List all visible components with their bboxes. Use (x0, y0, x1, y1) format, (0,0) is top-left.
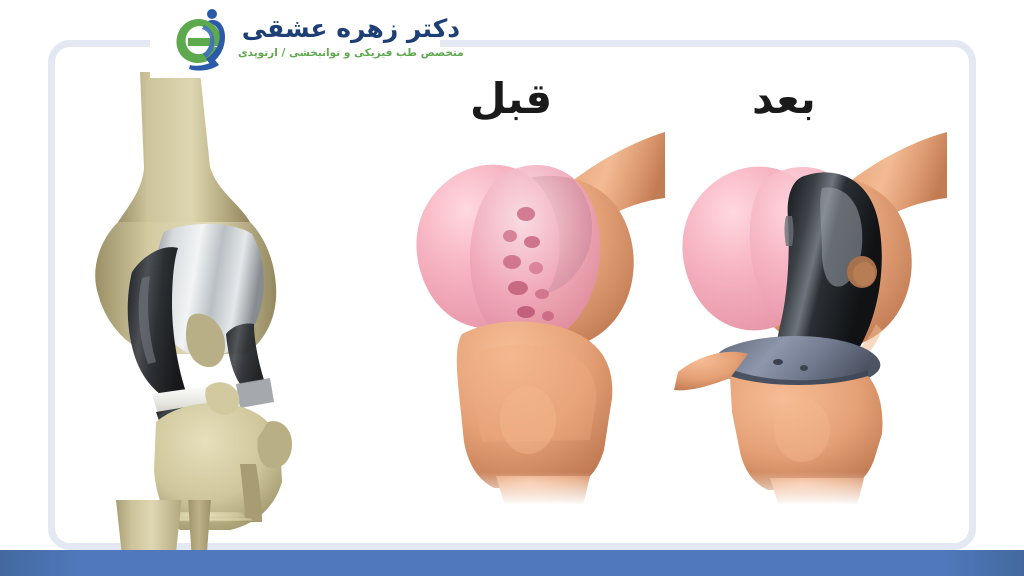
bottom-accent-bar (0, 550, 1024, 576)
knee-before-svg (400, 120, 665, 510)
illustration-knee-frontal-implant (60, 72, 300, 522)
baseplate-fixation-mark-1 (773, 359, 783, 365)
tibial-tuberosity-before (500, 386, 556, 454)
label-after: بعد (752, 78, 816, 120)
brand-header[interactable]: دکتر زهره عشقی متخصص طب فیزیکی و توانبخش… (168, 2, 418, 74)
lower-leg (168, 518, 256, 522)
doctor-specialty: متخصص طب فیزیکی و توانبخشی / ارتوپدی (238, 47, 464, 61)
brand-text-block: دکتر زهره عشقی متخصص طب فیزیکی و توانبخش… (234, 15, 466, 60)
logo-svg (168, 5, 234, 71)
logo-figure-head (207, 9, 217, 19)
label-before: قبل (470, 78, 552, 120)
slide-root: قبل بعد دکتر زهره عشقی متخصص طب فیزیکی و… (0, 0, 1024, 576)
prosthesis-edge-slot (785, 216, 794, 246)
bottom-accent-bar-gradient (0, 550, 1024, 576)
femur-shaft (118, 72, 252, 248)
tibia-fade-before (400, 472, 665, 514)
illustration-knee-after (672, 120, 947, 510)
implant-peg-hole-inner (853, 262, 875, 286)
knee-frontal-svg (60, 72, 300, 522)
tibia-fade-after (672, 472, 947, 514)
doctor-name: دکتر زهره عشقی (242, 15, 460, 44)
clinic-logo[interactable] (168, 5, 234, 71)
knee-after-svg (672, 120, 947, 510)
tibial-tuberosity-after (774, 398, 830, 462)
baseplate-fixation-mark-2 (800, 365, 808, 371)
illustration-knee-before (400, 120, 665, 510)
